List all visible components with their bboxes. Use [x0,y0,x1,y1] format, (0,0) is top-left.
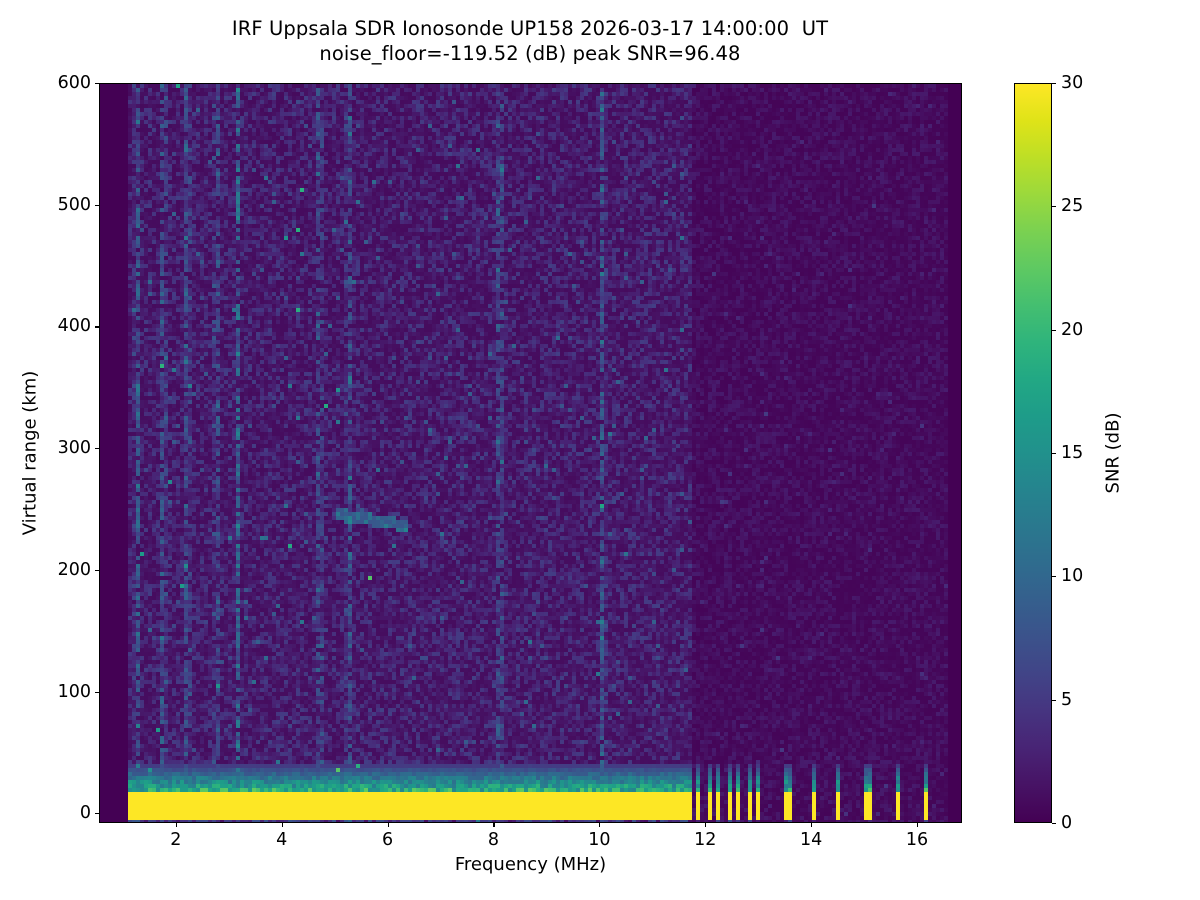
y-axis-tick-label: 600 [58,73,91,93]
colorbar[interactable] [1014,83,1052,823]
y-axis-tick [95,813,99,814]
colorbar-tick [1052,576,1056,577]
x-axis-tick [493,823,494,827]
colorbar-tick [1052,700,1056,701]
y-axis-tick [95,205,99,206]
x-axis-tick-label: 10 [588,830,610,850]
colorbar-tick-label: 5 [1061,690,1072,710]
y-axis-tick-label: 200 [58,560,91,580]
colorbar-tick [1052,206,1056,207]
y-axis-tick-label: 400 [58,316,91,336]
figure-title: IRF Uppsala SDR Ionosonde UP158 2026-03-… [0,16,1060,67]
y-axis-label: Virtual range (km) [20,371,41,536]
title-line-primary: IRF Uppsala SDR Ionosonde UP158 2026-03-… [0,16,1060,41]
y-axis-tick-label: 500 [58,195,91,215]
x-axis-tick [811,823,812,827]
x-axis-tick-label: 8 [488,830,499,850]
y-axis-tick-label: 300 [58,438,91,458]
y-axis-tick-label: 100 [58,682,91,702]
y-axis-tick [95,326,99,327]
colorbar-tick [1052,823,1056,824]
y-axis-tick [95,448,99,449]
ionogram-figure: IRF Uppsala SDR Ionosonde UP158 2026-03-… [0,0,1200,900]
y-axis-tick [95,570,99,571]
title-line-secondary: noise_floor=-119.52 (dB) peak SNR=96.48 [0,41,1060,66]
x-axis-tick-label: 14 [800,830,822,850]
x-axis-tick [388,823,389,827]
x-axis-tick [599,823,600,827]
colorbar-gradient [1014,83,1052,823]
colorbar-tick-label: 25 [1061,196,1083,216]
colorbar-tick [1052,453,1056,454]
x-axis-tick-label: 6 [382,830,393,850]
x-axis-tick [282,823,283,827]
x-axis-tick [705,823,706,827]
colorbar-tick-label: 30 [1061,73,1083,93]
x-axis-tick-label: 4 [276,830,287,850]
ionogram-heatmap-canvas[interactable] [100,84,962,823]
y-axis-tick [95,692,99,693]
colorbar-tick [1052,330,1056,331]
colorbar-tick-label: 0 [1061,813,1072,833]
colorbar-tick-label: 10 [1061,566,1083,586]
x-axis-label: Frequency (MHz) [99,854,962,875]
y-axis-tick [95,83,99,84]
x-axis-tick-label: 12 [694,830,716,850]
x-axis-tick-label: 16 [906,830,928,850]
y-axis-tick-label: 0 [80,803,91,823]
colorbar-tick-label: 20 [1061,320,1083,340]
x-axis-tick [917,823,918,827]
colorbar-label: SNR (dB) [1103,413,1124,494]
colorbar-tick-label: 15 [1061,443,1083,463]
x-axis-tick [176,823,177,827]
colorbar-tick [1052,83,1056,84]
x-axis-tick-label: 2 [170,830,181,850]
ionogram-plot-area[interactable] [99,83,962,823]
